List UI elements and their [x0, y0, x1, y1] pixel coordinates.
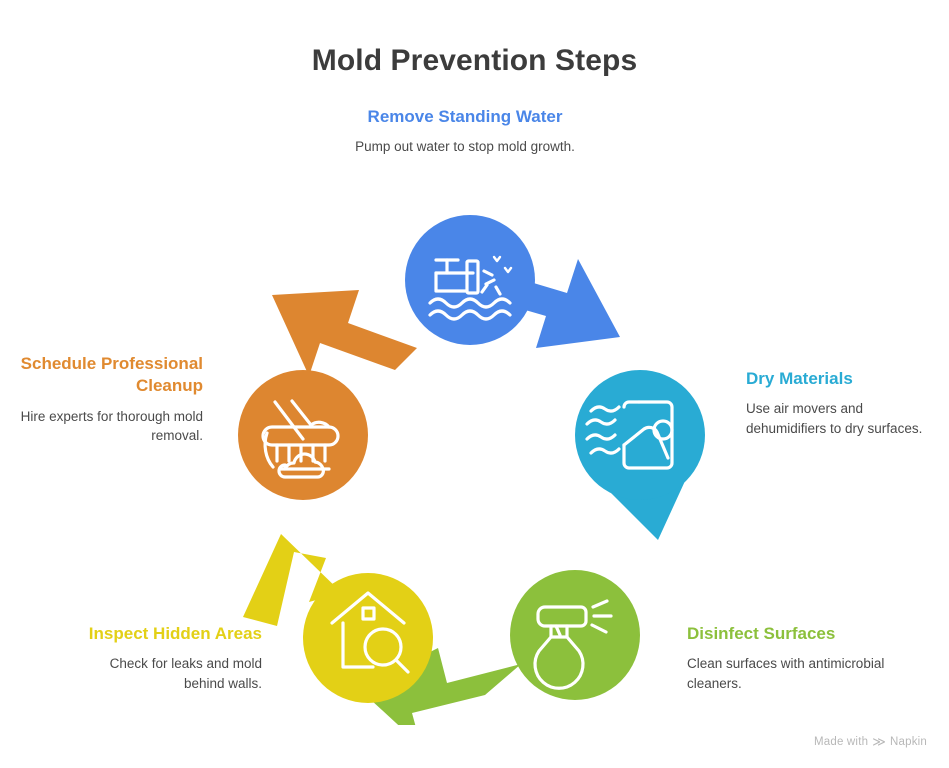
step-label-disinfect-surfaces: Disinfect Surfaces Clean surfaces with a…	[687, 623, 921, 694]
step-title: Inspect Hidden Areas	[70, 623, 262, 645]
step-label-dry-materials: Dry Materials Use air movers and dehumid…	[746, 368, 942, 439]
step-description: Use air movers and dehumidifiers to dry …	[746, 399, 942, 438]
step-title: Remove Standing Water	[333, 106, 597, 128]
node-schedule-professional-cleanup[interactable]	[238, 370, 368, 500]
step-description: Clean surfaces with antimicrobial cleane…	[687, 654, 921, 693]
node-disinfect-surfaces[interactable]	[510, 570, 640, 700]
node-inspect-hidden-areas[interactable]	[303, 573, 433, 703]
page-title: Mold Prevention Steps	[0, 44, 949, 78]
node-remove-standing-water[interactable]	[405, 215, 535, 345]
watermark-prefix: Made with	[814, 736, 868, 748]
cycle-diagram	[215, 215, 725, 725]
arrow-schedule-professional-cleanup-to-remove-standing-water	[272, 290, 417, 376]
step-title: Schedule Professional Cleanup	[18, 353, 203, 398]
napkin-watermark: Made with ≫ Napkin	[814, 734, 927, 750]
watermark-brand: Napkin	[890, 736, 927, 748]
node-dry-materials[interactable]	[575, 370, 705, 500]
step-title: Disinfect Surfaces	[687, 623, 921, 645]
step-description: Hire experts for thorough mold removal.	[18, 407, 203, 446]
step-title: Dry Materials	[746, 368, 942, 390]
step-label-remove-standing-water: Remove Standing Water Pump out water to …	[333, 106, 597, 157]
step-description: Pump out water to stop mold growth.	[333, 137, 597, 157]
step-description: Check for leaks and mold behind walls.	[70, 654, 262, 693]
napkin-logo-icon: ≫	[872, 734, 886, 750]
step-label-inspect-hidden-areas: Inspect Hidden Areas Check for leaks and…	[70, 623, 262, 694]
step-label-schedule-professional-cleanup: Schedule Professional Cleanup Hire exper…	[18, 353, 203, 446]
